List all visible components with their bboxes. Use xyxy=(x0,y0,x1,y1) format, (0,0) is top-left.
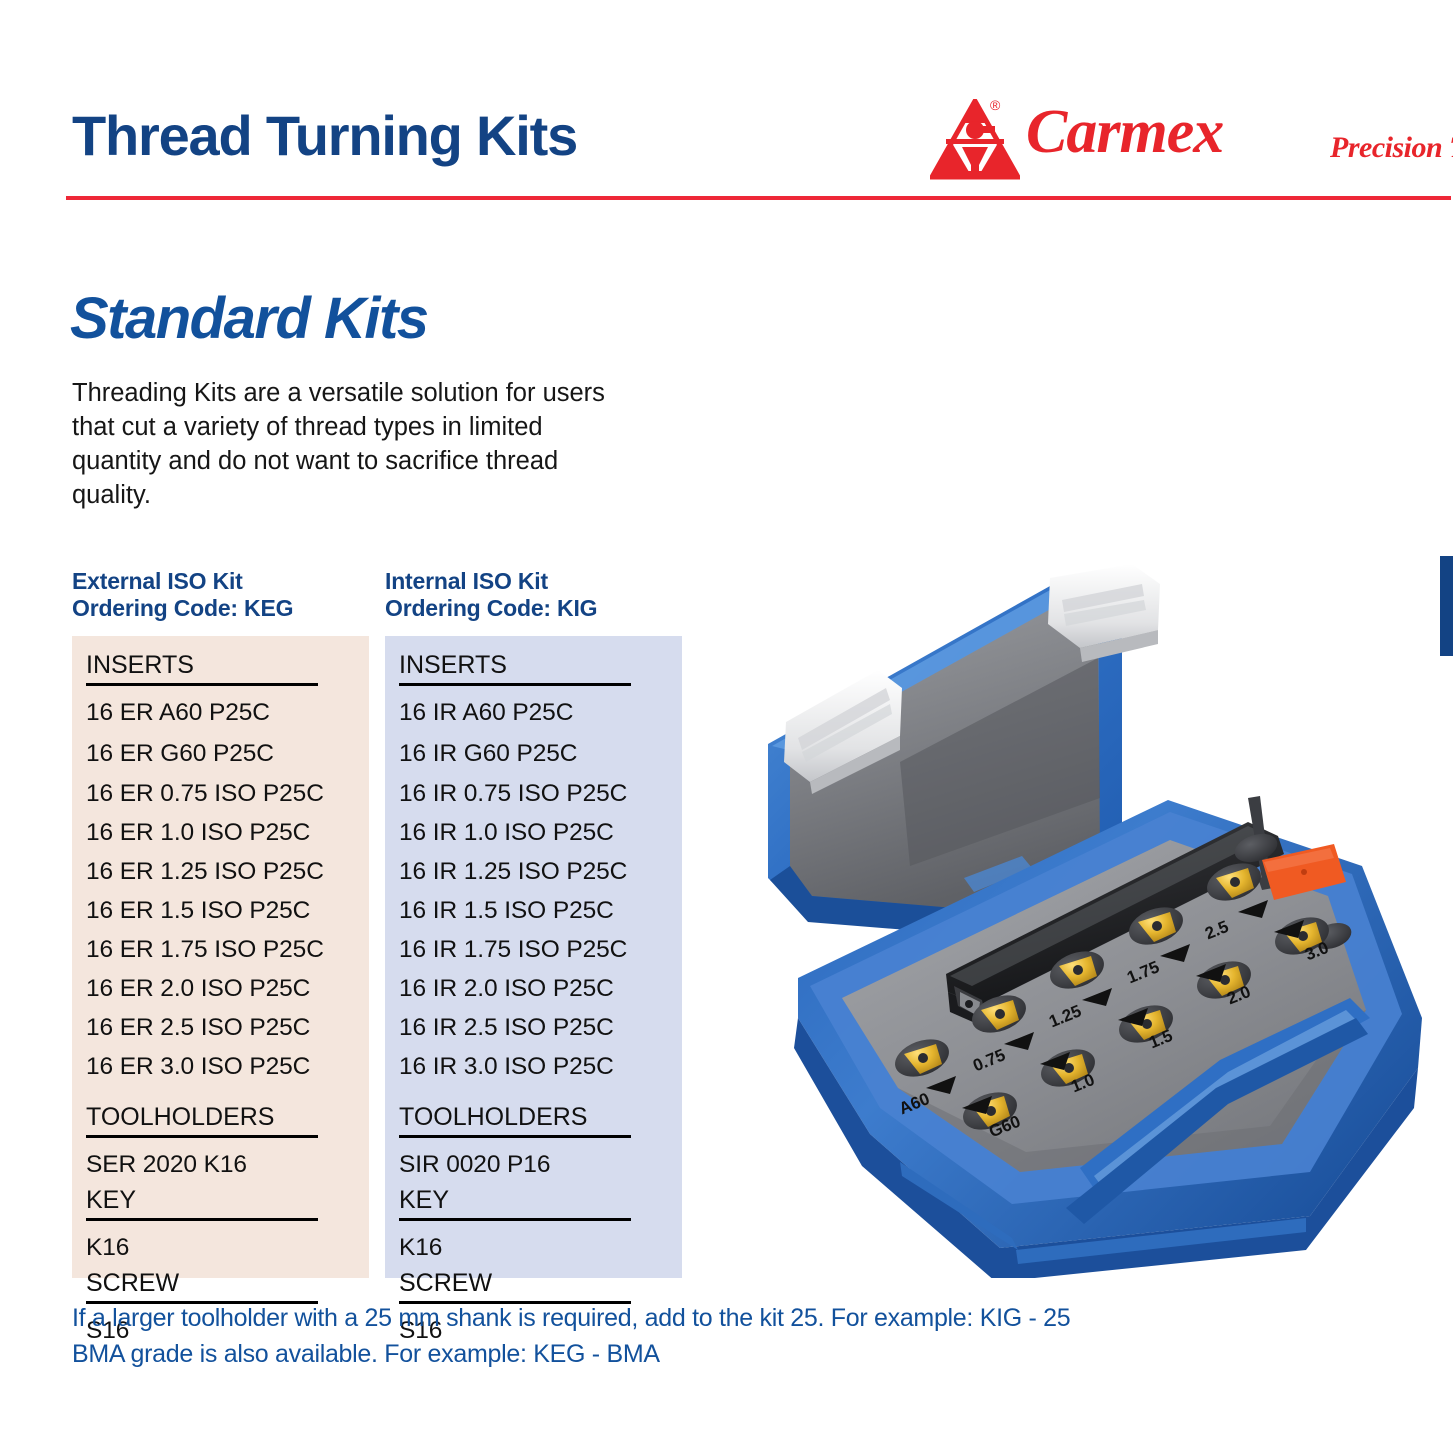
list-item: 16 IR 2.5 ISO P25C xyxy=(399,1008,664,1047)
page-edge-tab xyxy=(1440,556,1453,656)
list-item: 16 IR 1.25 ISO P25C xyxy=(399,852,664,891)
list-item: 16 IR G60 P25C xyxy=(399,733,664,774)
kit-heading-external-line2: Ordering Code: KEG xyxy=(72,595,369,622)
registered-trademark-icon: ® xyxy=(990,97,1000,113)
list-item: 16 ER 2.0 ISO P25C xyxy=(86,969,351,1008)
list-item: 16 IR A60 P25C xyxy=(399,692,664,733)
list-item: K16 xyxy=(86,1227,351,1268)
list-item: K16 xyxy=(399,1227,664,1268)
group-label-toolholders: TOOLHOLDERS xyxy=(399,1102,664,1135)
footer-note-line2: BMA grade is also available. For example… xyxy=(72,1336,1272,1372)
kit-heading-external-line1: External ISO Kit xyxy=(72,568,369,595)
group-label-screw: SCREW xyxy=(399,1268,664,1301)
footer-note: If a larger toolholder with a 25 mm shan… xyxy=(72,1300,1272,1372)
list-item: SER 2020 K16 xyxy=(86,1144,351,1185)
section-intro-text: Threading Kits are a versatile solution … xyxy=(72,376,632,512)
footer-note-line1: If a larger toolholder with a 25 mm shan… xyxy=(72,1300,1272,1336)
kit-panel-internal: INSERTS 16 IR A60 P25C 16 IR G60 P25C 16… xyxy=(385,636,682,1278)
group-label-inserts: INSERTS xyxy=(86,650,351,683)
list-item: 16 ER A60 P25C xyxy=(86,692,351,733)
kit-heading-internal-line2: Ordering Code: KIG xyxy=(385,595,682,622)
kit-panel-external: INSERTS 16 ER A60 P25C 16 ER G60 P25C 16… xyxy=(72,636,369,1278)
group-label-key: KEY xyxy=(86,1185,351,1218)
carmex-triangle-icon xyxy=(930,99,1020,181)
list-item: 16 ER 1.25 ISO P25C xyxy=(86,852,351,891)
spacer xyxy=(399,1086,664,1102)
list-item: 16 IR 1.5 ISO P25C xyxy=(399,891,664,930)
group-rule xyxy=(399,683,631,686)
kit-column-external: External ISO Kit Ordering Code: KEG INSE… xyxy=(72,568,369,1278)
section-title: Standard Kits xyxy=(70,290,428,348)
group-label-screw: SCREW xyxy=(86,1268,351,1301)
list-item: 16 IR 1.0 ISO P25C xyxy=(399,813,664,852)
group-rule xyxy=(399,1135,631,1138)
kit-column-internal: Internal ISO Kit Ordering Code: KIG INSE… xyxy=(385,568,682,1278)
group-rule xyxy=(399,1218,631,1221)
product-photo: A60 G60 0.75 1.0 1.25 1.5 1.75 2.0 2.5 3… xyxy=(750,548,1440,1278)
list-item: 16 ER 0.75 ISO P25C xyxy=(86,774,351,813)
carmex-logo: ® Carmex Precision Tools Ltd. xyxy=(930,97,1440,189)
group-rule xyxy=(86,683,318,686)
group-label-inserts: INSERTS xyxy=(399,650,664,683)
group-rule xyxy=(86,1218,318,1221)
kit-heading-external: External ISO Kit Ordering Code: KEG xyxy=(72,568,369,622)
header-divider xyxy=(66,196,1451,200)
list-item: SIR 0020 P16 xyxy=(399,1144,664,1185)
list-item: 16 IR 2.0 ISO P25C xyxy=(399,969,664,1008)
group-label-toolholders: TOOLHOLDERS xyxy=(86,1102,351,1135)
list-item: 16 ER 1.5 ISO P25C xyxy=(86,891,351,930)
list-item: 16 ER G60 P25C xyxy=(86,733,351,774)
list-item: 16 ER 1.75 ISO P25C xyxy=(86,930,351,969)
list-item: 16 ER 3.0 ISO P25C xyxy=(86,1047,351,1086)
list-item: 16 ER 1.0 ISO P25C xyxy=(86,813,351,852)
list-item: 16 IR 3.0 ISO P25C xyxy=(399,1047,664,1086)
list-item: 16 ER 2.5 ISO P25C xyxy=(86,1008,351,1047)
kit-heading-internal-line1: Internal ISO Kit xyxy=(385,568,682,595)
spacer xyxy=(86,1086,351,1102)
logo-tagline: Precision Tools Ltd. xyxy=(1330,131,1453,165)
kit-heading-internal: Internal ISO Kit Ordering Code: KIG xyxy=(385,568,682,622)
logo-wordmark: Carmex xyxy=(1026,101,1223,163)
group-rule xyxy=(86,1135,318,1138)
page-title: Thread Turning Kits xyxy=(72,108,577,164)
list-item: 16 IR 0.75 ISO P25C xyxy=(399,774,664,813)
list-item: 16 IR 1.75 ISO P25C xyxy=(399,930,664,969)
group-label-key: KEY xyxy=(399,1185,664,1218)
